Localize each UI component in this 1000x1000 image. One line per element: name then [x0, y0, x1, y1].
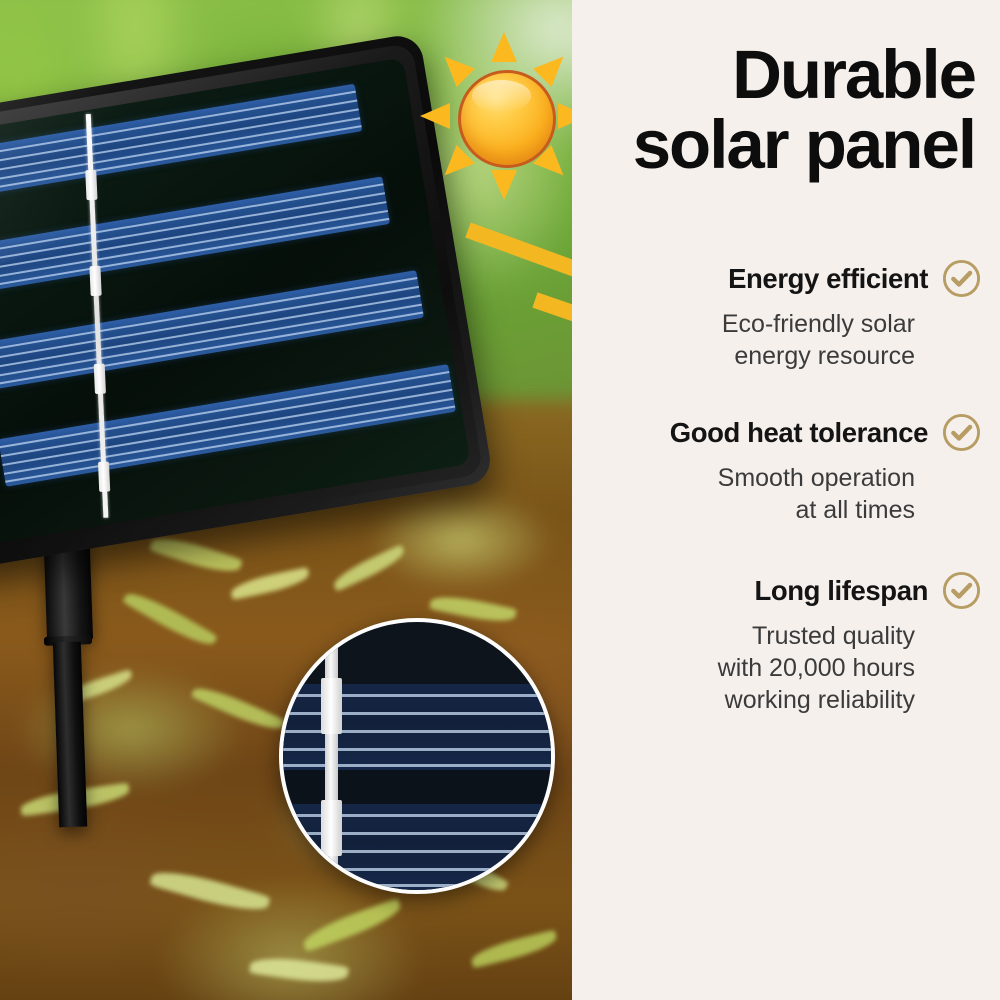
pv-cell — [0, 364, 456, 487]
feature-item-long-lifespan: Long lifespan Trusted quality with 20,00… — [572, 570, 1000, 716]
busbar-tab — [321, 678, 342, 734]
check-circle-icon — [941, 570, 982, 611]
headline-line-2: solar panel — [595, 112, 975, 178]
feature-item-energy-efficient: Energy efficient Eco-friendly solar ener… — [572, 258, 1000, 372]
feature-item-good-heat-tolerance: Good heat tolerance Smooth operation at … — [572, 412, 1000, 526]
feature-description: Trusted quality with 20,000 hours workin… — [572, 620, 1000, 716]
feature-header: Good heat tolerance — [572, 412, 1000, 453]
info-panel: Durable solar panel Energy efficient Eco… — [572, 0, 1000, 1000]
headline-line-1: Durable — [732, 36, 975, 113]
page-title: Durable solar panel — [595, 42, 975, 178]
solar-panel-photo — [0, 0, 572, 1000]
sun-icon — [424, 36, 572, 196]
product-feature-card: Durable solar panel Energy efficient Eco… — [0, 0, 1000, 1000]
feature-header: Long lifespan — [572, 570, 1000, 611]
pv-cell — [0, 270, 424, 393]
pv-cell — [0, 176, 390, 298]
feature-desc-line: with 20,000 hours — [572, 652, 915, 684]
feature-desc-line: Eco-friendly solar — [572, 308, 915, 340]
check-circle-icon — [941, 258, 982, 299]
busbar-tab — [321, 800, 342, 856]
check-circle-icon — [941, 412, 982, 453]
feature-desc-line: energy resource — [572, 340, 915, 372]
feature-description: Smooth operation at all times — [572, 462, 1000, 526]
feature-title: Energy efficient — [728, 263, 928, 295]
feature-desc-line: at all times — [572, 494, 915, 526]
feature-title: Long lifespan — [754, 575, 928, 607]
feature-desc-line: Smooth operation — [572, 462, 915, 494]
feature-description: Eco-friendly solar energy resource — [572, 308, 1000, 372]
solar-cell-closeup-magnifier — [279, 618, 555, 894]
feature-header: Energy efficient — [572, 258, 1000, 299]
feature-desc-line: working reliability — [572, 684, 915, 716]
feature-title: Good heat tolerance — [670, 417, 928, 449]
feature-desc-line: Trusted quality — [572, 620, 915, 652]
sun-disc — [458, 70, 556, 168]
panel-glass — [0, 57, 471, 546]
